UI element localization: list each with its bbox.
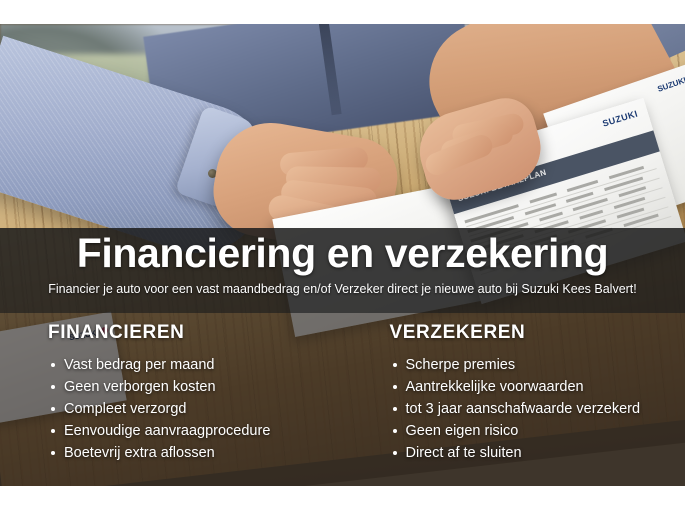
bullet-dot-icon — [51, 451, 55, 455]
bullet-dot-icon — [51, 429, 55, 433]
list-item: Compleet verzorgd — [64, 398, 343, 420]
banner-subtitle: Financier je auto voor een vast maandbed… — [0, 281, 685, 297]
list-item: Geen eigen risico — [406, 420, 685, 442]
list-item-label: Eenvoudige aanvraagprocedure — [64, 423, 270, 439]
list-item-label: Aantrekkelijke voorwaarden — [406, 379, 584, 395]
list-item: Vast bedrag per maand — [64, 354, 343, 376]
list-item-label: tot 3 jaar aanschafwaarde verzekerd — [406, 401, 641, 417]
list-item: Eenvoudige aanvraagprocedure — [64, 420, 343, 442]
letterbox-top — [0, 0, 685, 24]
column-financieren: FINANCIEREN Vast bedrag per maand Geen v… — [0, 322, 343, 464]
list-item-label: Geen verborgen kosten — [64, 379, 216, 395]
list-item-label: Vast bedrag per maand — [64, 357, 214, 373]
banner-title: Financiering en verzekering — [0, 229, 685, 277]
list-item-label: Direct af te sluiten — [406, 445, 522, 461]
promo-banner: SUZUKI SUZUKI SUZUKI SUZUKI BETAALPLAN — [0, 0, 685, 514]
list-item: Direct af te sluiten — [406, 442, 685, 464]
column-heading-financieren: FINANCIEREN — [48, 322, 343, 344]
suzuki-logo-main: SUZUKI — [601, 108, 639, 128]
column-heading-verzekeren: VERZEKEREN — [390, 322, 685, 344]
list-item: Scherpe premies — [406, 354, 685, 376]
bullet-list-verzekeren: Scherpe premies Aantrekkelijke voorwaard… — [390, 354, 685, 464]
list-item: tot 3 jaar aanschafwaarde verzekerd — [406, 398, 685, 420]
list-item: Geen verborgen kosten — [64, 376, 343, 398]
list-item-label: Boetevrij extra aflossen — [64, 445, 215, 461]
bullet-dot-icon — [393, 407, 397, 411]
list-item-label: Compleet verzorgd — [64, 401, 187, 417]
list-item: Aantrekkelijke voorwaarden — [406, 376, 685, 398]
bullet-dot-icon — [393, 385, 397, 389]
feature-columns: FINANCIEREN Vast bedrag per maand Geen v… — [0, 322, 685, 464]
bullet-dot-icon — [51, 407, 55, 411]
suzuki-logo-back: SUZUKI — [656, 76, 685, 94]
column-verzekeren: VERZEKEREN Scherpe premies Aantrekkelijk… — [343, 322, 685, 464]
bullet-dot-icon — [393, 363, 397, 367]
list-item-label: Scherpe premies — [406, 357, 516, 373]
bullet-dot-icon — [51, 385, 55, 389]
list-item: Boetevrij extra aflossen — [64, 442, 343, 464]
bullet-dot-icon — [393, 451, 397, 455]
bullet-list-financieren: Vast bedrag per maand Geen verborgen kos… — [48, 354, 343, 464]
list-item-label: Geen eigen risico — [406, 423, 519, 439]
bullet-dot-icon — [51, 363, 55, 367]
letterbox-bottom — [0, 486, 685, 514]
bullet-dot-icon — [393, 429, 397, 433]
